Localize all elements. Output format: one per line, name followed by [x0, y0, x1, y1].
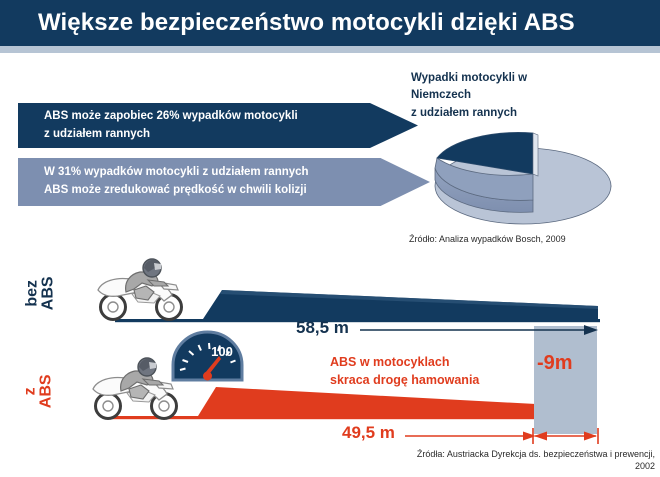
banner-text-group: W 31% wypadków motocykli z udziałem rann…	[44, 164, 309, 200]
delta-band	[534, 326, 597, 434]
pie-title-line-2: Niemczech	[411, 89, 471, 101]
gauge-hub	[203, 372, 212, 381]
label-with-abs: z ABS	[23, 361, 56, 421]
label-without-abs-line-2: ABS	[41, 263, 57, 323]
banner-line-2: z udziałem rannych	[44, 126, 298, 144]
header-bar: Większe bezpieczeństwo motocykli dzięki …	[0, 0, 660, 46]
label-with-abs-line-2: ABS	[39, 361, 55, 421]
banner-line-1: W 31% wypadków motocykli z udziałem rann…	[44, 164, 309, 182]
abs-note-line-1: ABS w motocyklach	[330, 353, 479, 371]
banner-line-2: ABS może zredukować prędkość w chwili ko…	[44, 182, 309, 200]
speedometer-svg: 100	[170, 330, 245, 382]
pie-title-line-3: z udziałem rannych	[411, 107, 517, 119]
pie-title-line-1: Wypadki motocykli w	[411, 72, 527, 84]
delta-value: -9m	[537, 352, 573, 375]
banner-text-group: ABS może zapobiec 26% wypadków motocykli…	[44, 108, 298, 144]
label-with-abs-line-1: z	[23, 361, 39, 421]
measure-arrow-with-abs	[405, 428, 540, 444]
banner-line-1: ABS może zapobiec 26% wypadków motocykli	[44, 108, 298, 126]
bottom-source-line-1: Źródła: Austriacka Dyrekcja ds. bezpiecz…	[310, 448, 655, 460]
distance-without-abs: 58,5 m	[296, 318, 349, 338]
speedometer-gauge: 100	[170, 330, 245, 387]
pie-chart	[415, 124, 630, 232]
motorcycle-icon-without-abs	[88, 256, 190, 322]
pie-chart-title: Wypadki motocykli w Niemczech z udziałem…	[411, 70, 651, 122]
page-title: Większe bezpieczeństwo motocykli dzięki …	[38, 9, 575, 37]
abs-note-line-2: skraca drogę hamowania	[330, 371, 479, 389]
bottom-source-line-2: 2002	[310, 460, 655, 472]
abs-prevention-banner: ABS może zapobiec 26% wypadków motocykli…	[18, 103, 418, 148]
bottom-source: Źródła: Austriacka Dyrekcja ds. bezpiecz…	[310, 448, 655, 472]
gauge-value: 100	[211, 344, 233, 359]
header-underline	[0, 46, 660, 53]
label-without-abs-line-1: bez	[25, 263, 41, 323]
pie-chart-source: Źródło: Analiza wypadków Bosch, 2009	[409, 234, 566, 244]
abs-shortens-braking-note: ABS w motocyklach skraca drogę hamowania	[330, 353, 479, 389]
delta-measure-arrow	[530, 426, 602, 446]
measure-arrow-without-abs	[360, 322, 600, 338]
pie-chart-svg	[415, 124, 630, 232]
abs-speed-reduction-banner: W 31% wypadków motocykli z udziałem rann…	[18, 158, 430, 206]
pie-slice-gap-highlight	[533, 133, 538, 176]
distance-with-abs: 49,5 m	[342, 423, 395, 443]
label-without-abs: bez ABS	[25, 263, 58, 323]
